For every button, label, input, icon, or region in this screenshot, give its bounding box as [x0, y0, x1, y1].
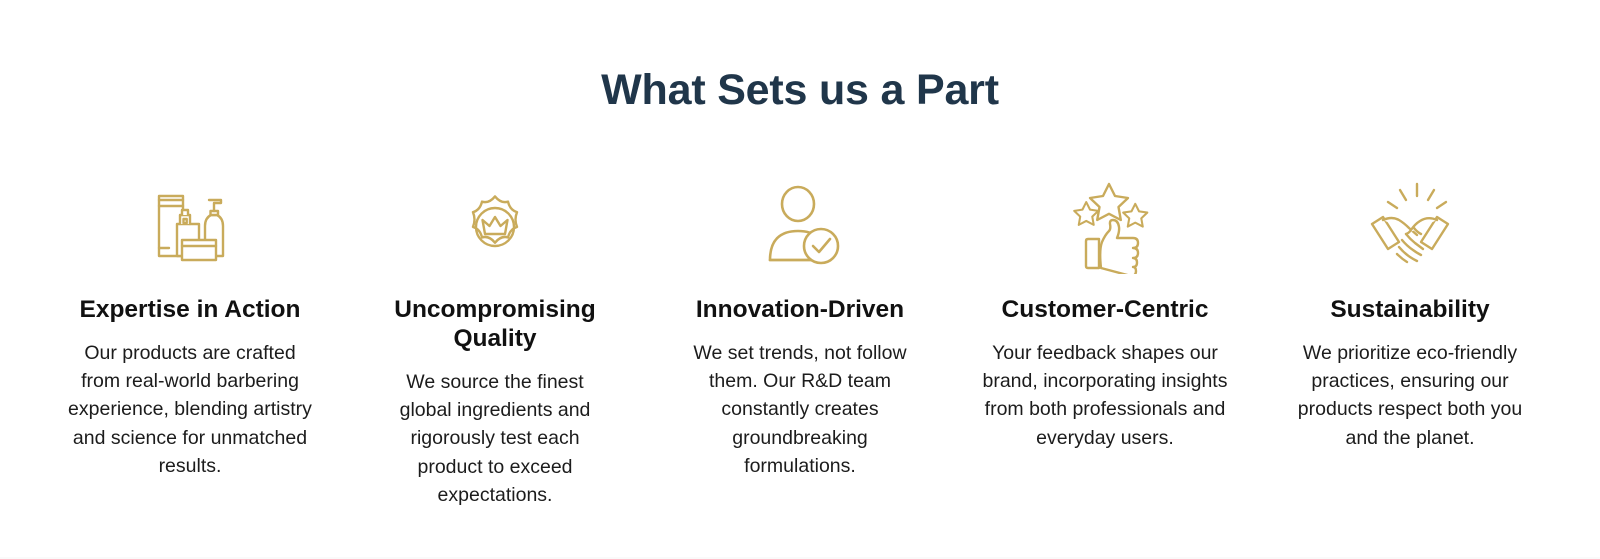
- handshake-icon: [1362, 178, 1458, 274]
- feature-list: Expertise in Action Our products are cra…: [55, 178, 1545, 509]
- thumbs-up-stars-icon: [1057, 178, 1153, 274]
- feature-title: Innovation-Driven: [696, 296, 904, 325]
- feature-description: We prioritize eco-friendly practices, en…: [1288, 339, 1532, 452]
- feature-description: We source the finest global ingredients …: [385, 368, 605, 509]
- feature-title: Sustainability: [1330, 296, 1489, 325]
- feature-description: Your feedback shapes our brand, incorpor…: [981, 339, 1229, 452]
- verified-user-icon: [752, 178, 848, 274]
- page-title: What Sets us a Part: [0, 66, 1600, 115]
- feature-card-sustainability: Sustainability We prioritize eco-friendl…: [1275, 178, 1545, 452]
- feature-card-expertise-in-action: Expertise in Action Our products are cra…: [55, 178, 325, 480]
- feature-title: Customer-Centric: [1002, 296, 1209, 325]
- cosmetic-bottles-icon: [142, 178, 238, 274]
- quality-badge-crown-icon: [447, 178, 543, 274]
- feature-description: Our products are crafted from real-world…: [68, 339, 312, 480]
- feature-card-customer-centric: Customer-Centric Your feedback shapes ou…: [970, 178, 1240, 452]
- what-sets-us-apart-section: What Sets us a Part: [0, 0, 1600, 559]
- feature-card-uncompromising-quality: Uncompromising Quality We source the fin…: [360, 178, 630, 509]
- feature-description: We set trends, not follow them. Our R&D …: [684, 339, 916, 480]
- feature-title: Expertise in Action: [79, 296, 300, 325]
- feature-card-innovation-driven: Innovation-Driven We set trends, not fol…: [665, 178, 935, 480]
- feature-title: Uncompromising Quality: [383, 296, 608, 354]
